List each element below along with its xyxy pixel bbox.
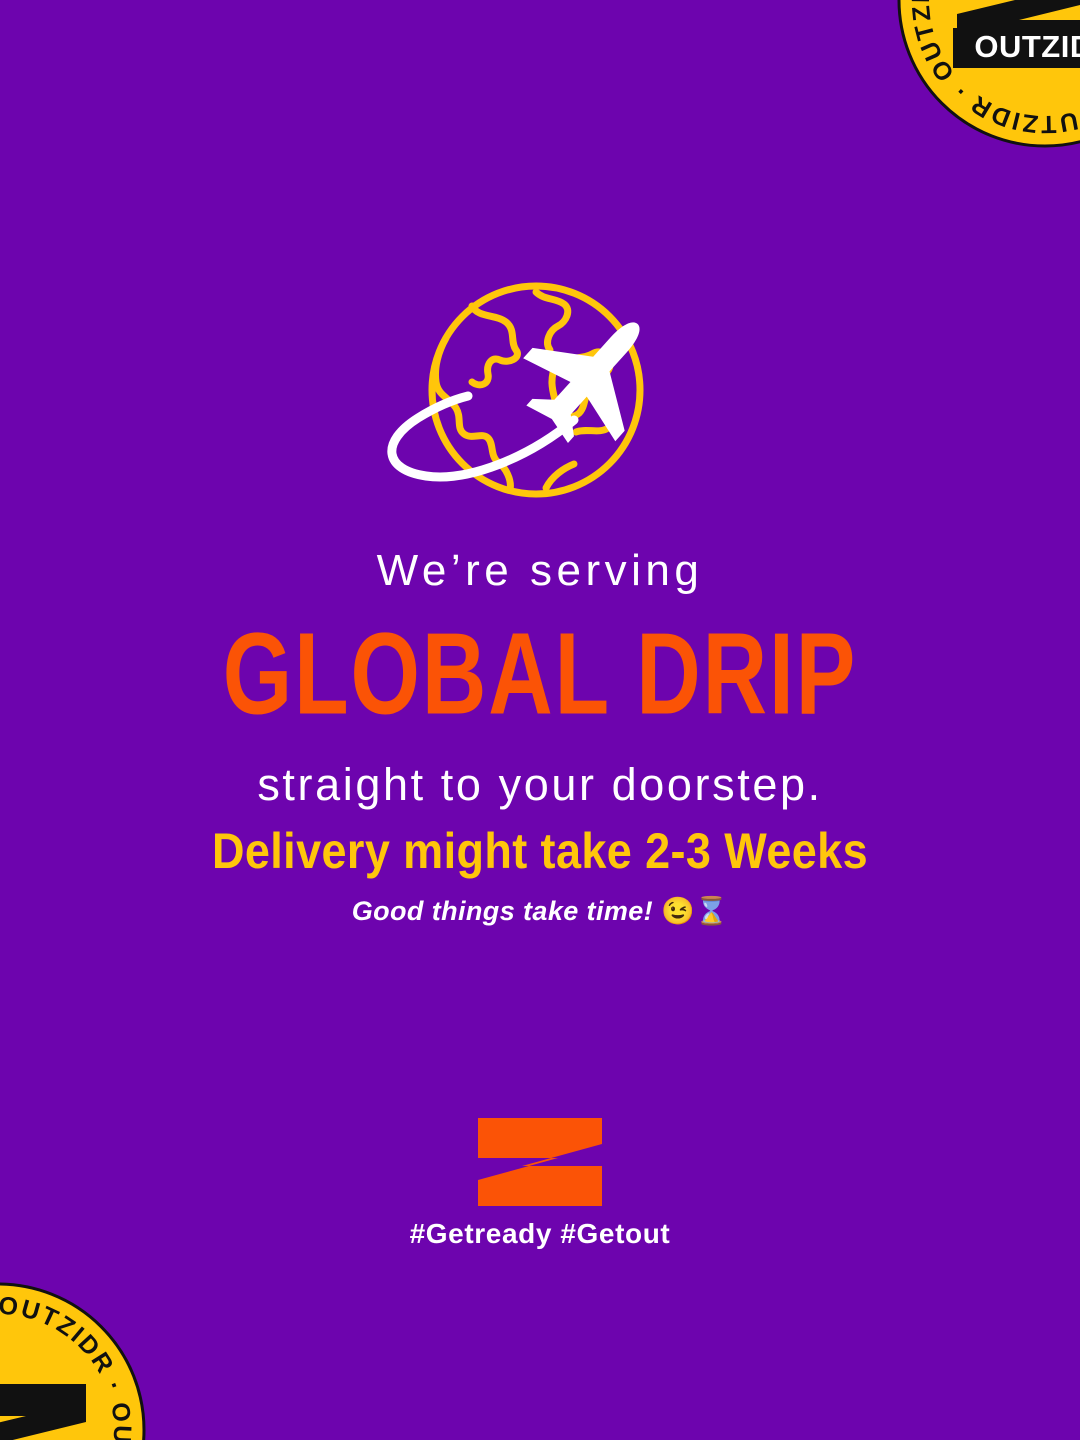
- delivery-info-block: Delivery might take 2-3 Weeks Good thing…: [0, 822, 1080, 927]
- brand-badge-bottom-left: OUTZIDR · OUTZIDR · OUTZIDR · OUTZIDR · …: [0, 1280, 148, 1440]
- svg-text:OUTZIDR: OUTZIDR: [974, 29, 1080, 64]
- poster-canvas: OUTZIDR · OUTZIDR · OUTZIDR · OUTZIDR · …: [0, 0, 1080, 1440]
- delivery-headline: Delivery might take 2-3 Weeks: [0, 822, 1080, 880]
- brand-badge-top-right: OUTZIDR · OUTZIDR · OUTZIDR · OUTZIDR · …: [895, 0, 1080, 150]
- headline-block: We’re serving GLOBAL DRIP straight to yo…: [0, 548, 1080, 808]
- eyebrow-text: We’re serving: [0, 548, 1080, 594]
- airplane-icon: [501, 282, 683, 465]
- hashtags-text: #Getready #Getout: [410, 1218, 671, 1250]
- globe-airplane-illustration: [0, 272, 1080, 512]
- wink-hourglass-emoji: 😉⌛: [661, 896, 728, 926]
- z-logo-mark: [478, 1118, 602, 1206]
- page-title: GLOBAL DRIP: [16, 610, 1064, 740]
- subline-text: straight to your doorstep.: [0, 761, 1080, 808]
- footer-block: #Getready #Getout: [0, 1118, 1080, 1250]
- delivery-note-text: Good things take time!: [352, 896, 653, 926]
- delivery-note: Good things take time! 😉⌛: [0, 895, 1080, 927]
